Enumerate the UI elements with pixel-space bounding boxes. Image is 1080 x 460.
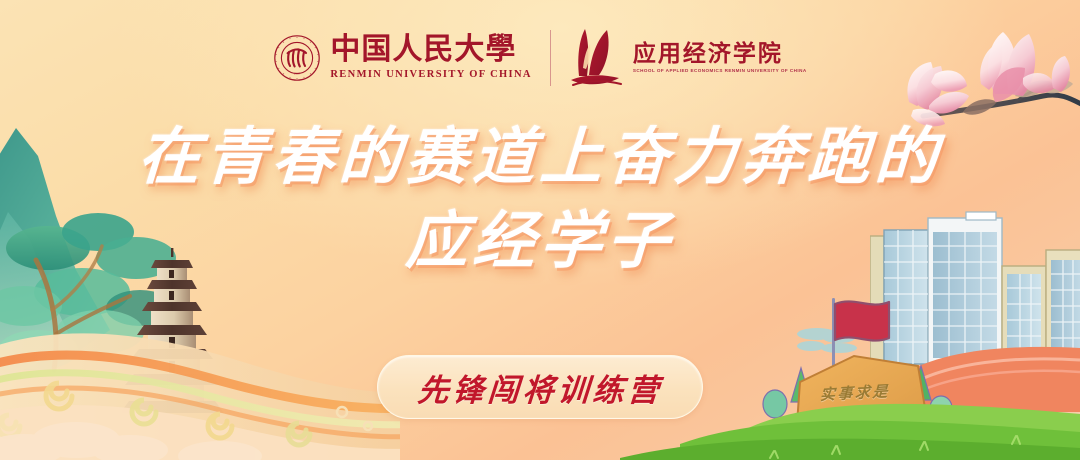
headline: 在青春的赛道上奋力奔跑的 应经学子: [0, 126, 1080, 272]
headline-line-2: 应经学子: [0, 210, 1080, 272]
program-badge[interactable]: 先锋闯将训练营: [377, 355, 703, 419]
event-banner: 实事求是: [0, 0, 1080, 460]
auspicious-clouds: [0, 300, 400, 460]
university-name-en: RENMIN UNIVERSITY OF CHINA: [330, 70, 531, 81]
school-name-cn: 应用经济学院: [633, 42, 783, 65]
headline-line-1: 在青春的赛道上奋力奔跑的: [0, 126, 1080, 188]
sail-logo-icon: [569, 28, 625, 88]
svg-text:1937: 1937: [294, 71, 301, 75]
program-badge-label: 先锋闯将训练营: [416, 365, 664, 410]
ruc-logo: 1937 中国人民大學 RENMIN UNIVERSITY OF CHINA: [273, 34, 531, 82]
school-name-en: SCHOOL OF APPLIED ECONOMICS RENMIN UNIVE…: [633, 69, 807, 74]
school-logo: 应用经济学院 SCHOOL OF APPLIED ECONOMICS RENMI…: [569, 28, 807, 88]
logo-divider: [550, 30, 551, 86]
university-name-cn: 中国人民大學: [330, 35, 516, 65]
ruc-seal-icon: 1937: [273, 34, 321, 82]
